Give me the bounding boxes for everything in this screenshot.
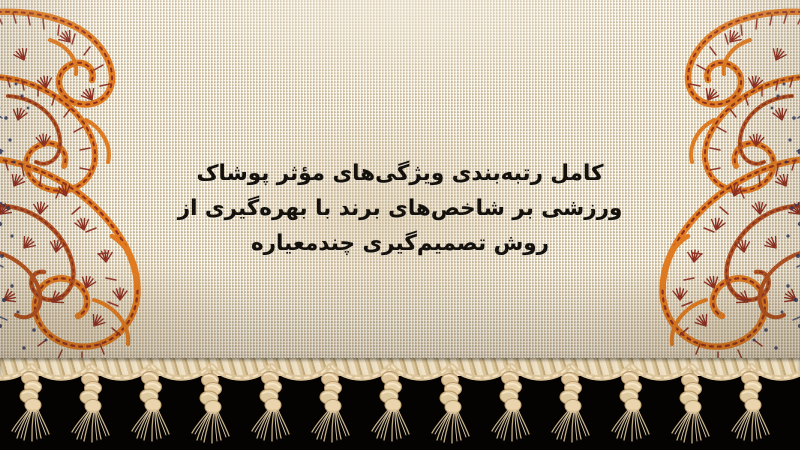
title-line-3: روش تصمیم‌گیری چندمعیاره: [0, 226, 800, 261]
page-title: کامل رتبه‌بندی ویژگی‌های مؤثر پوشاک ورزش…: [0, 156, 800, 261]
title-line-1: کامل رتبه‌بندی ویژگی‌های مؤثر پوشاک: [0, 156, 800, 191]
title-card: کامل رتبه‌بندی ویژگی‌های مؤثر پوشاک ورزش…: [0, 0, 800, 450]
title-line-2: ورزشی بر شاخص‌های برند با بهره‌گیری از: [0, 191, 800, 226]
braided-selvedge: [0, 358, 800, 376]
